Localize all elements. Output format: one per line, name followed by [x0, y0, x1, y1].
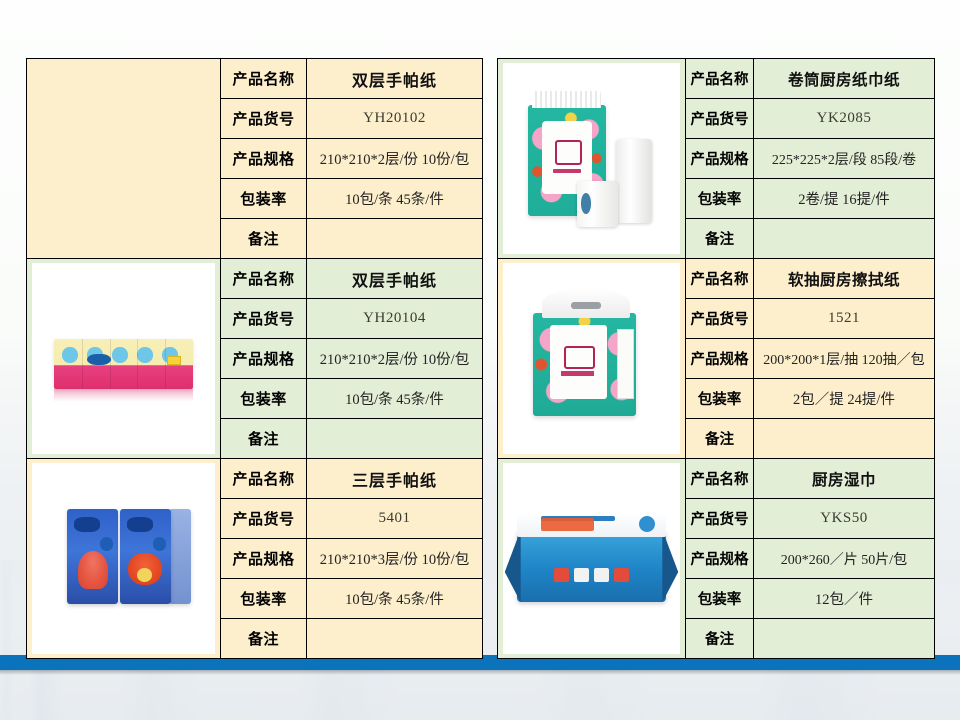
label-product_spec: 产品规格 [221, 539, 307, 579]
product-photo-wet-wipes-pack [498, 459, 686, 659]
label-product_spec: 产品规格 [221, 339, 307, 379]
value-packing_rate: 2包／提 24提/件 [754, 379, 935, 419]
value-product_code: 5401 [307, 499, 483, 539]
value-remarks [307, 419, 483, 459]
label-remarks: 备注 [221, 619, 307, 659]
label-product_name: 产品名称 [686, 259, 754, 299]
value-remarks [307, 619, 483, 659]
value-packing_rate: 10包/条 45条/件 [307, 379, 483, 419]
value-packing_rate: 10包/条 45条/件 [307, 579, 483, 619]
label-product_spec: 产品规格 [686, 139, 754, 179]
label-packing_rate: 包装率 [221, 579, 307, 619]
product-spec-table-left: 产品名称双层手帕纸产品货号YH20102产品规格210*210*2层/份 10份… [26, 58, 483, 659]
label-packing_rate: 包装率 [221, 379, 307, 419]
product-photo-handkerchief-10pack [27, 259, 221, 459]
label-packing_rate: 包装率 [686, 379, 754, 419]
slide-canvas: 产品名称双层手帕纸产品货号YH20102产品规格210*210*2层/份 10份… [0, 0, 960, 720]
value-product_name: 厨房湿巾 [754, 459, 935, 499]
product-photo [503, 263, 680, 454]
product-photo-sea-creature-twinpack [27, 459, 221, 659]
value-product_code: YKS50 [754, 499, 935, 539]
product-photo-empty [27, 59, 221, 259]
label-remarks: 备注 [221, 419, 307, 459]
product-photo-kitchen-roll-pack [498, 59, 686, 259]
product-spec-table-right: 产品名称卷筒厨房纸巾纸产品货号YK2085产品规格225*225*2层/段 85… [497, 58, 935, 659]
label-product_code: 产品货号 [686, 99, 754, 139]
value-product_code: 1521 [754, 299, 935, 339]
value-product_spec: 225*225*2层/段 85段/卷 [754, 139, 935, 179]
product-photo [503, 63, 680, 254]
label-packing_rate: 包装率 [686, 179, 754, 219]
value-product_spec: 200*200*1层/抽 120抽／包 [754, 339, 935, 379]
value-product_code: YK2085 [754, 99, 935, 139]
label-remarks: 备注 [686, 419, 754, 459]
label-product_name: 产品名称 [221, 59, 307, 99]
label-product_spec: 产品规格 [686, 539, 754, 579]
label-product_code: 产品货号 [221, 299, 307, 339]
product-photo [32, 463, 215, 654]
table-row: 产品名称双层手帕纸 [27, 59, 483, 99]
table-row: 产品名称卷筒厨房纸巾纸 [498, 59, 935, 99]
value-product_spec: 210*210*3层/份 10份/包 [307, 539, 483, 579]
label-product_code: 产品货号 [221, 99, 307, 139]
label-product_code: 产品货号 [686, 299, 754, 339]
accent-bar-shadow [0, 670, 960, 675]
value-product_name: 软抽厨房擦拭纸 [754, 259, 935, 299]
label-product_name: 产品名称 [686, 59, 754, 99]
label-product_code: 产品货号 [686, 499, 754, 539]
label-product_spec: 产品规格 [221, 139, 307, 179]
value-product_spec: 200*260／片 50片/包 [754, 539, 935, 579]
label-product_name: 产品名称 [221, 459, 307, 499]
value-remarks [754, 419, 935, 459]
value-product_code: YH20102 [307, 99, 483, 139]
value-packing_rate: 2卷/提 16提/件 [754, 179, 935, 219]
label-remarks: 备注 [686, 219, 754, 259]
label-packing_rate: 包装率 [221, 179, 307, 219]
label-product_code: 产品货号 [221, 499, 307, 539]
value-product_name: 双层手帕纸 [307, 59, 483, 99]
value-remarks [307, 219, 483, 259]
product-photo-soft-pull-wipe-box [498, 259, 686, 459]
table-row: 产品名称三层手帕纸 [27, 459, 483, 499]
label-remarks: 备注 [686, 619, 754, 659]
value-packing_rate: 12包／件 [754, 579, 935, 619]
value-product_spec: 210*210*2层/份 10份/包 [307, 339, 483, 379]
value-product_spec: 210*210*2层/份 10份/包 [307, 139, 483, 179]
product-photo [32, 263, 215, 454]
value-product_name: 三层手帕纸 [307, 459, 483, 499]
table-row: 产品名称厨房湿巾 [498, 459, 935, 499]
label-product_spec: 产品规格 [686, 339, 754, 379]
table-row: 产品名称双层手帕纸 [27, 259, 483, 299]
value-remarks [754, 219, 935, 259]
label-product_name: 产品名称 [686, 459, 754, 499]
product-photo [503, 463, 680, 654]
value-packing_rate: 10包/条 45条/件 [307, 179, 483, 219]
label-remarks: 备注 [221, 219, 307, 259]
table-row: 产品名称软抽厨房擦拭纸 [498, 259, 935, 299]
value-product_name: 卷筒厨房纸巾纸 [754, 59, 935, 99]
label-product_name: 产品名称 [221, 259, 307, 299]
value-remarks [754, 619, 935, 659]
label-packing_rate: 包装率 [686, 579, 754, 619]
value-product_name: 双层手帕纸 [307, 259, 483, 299]
value-product_code: YH20104 [307, 299, 483, 339]
